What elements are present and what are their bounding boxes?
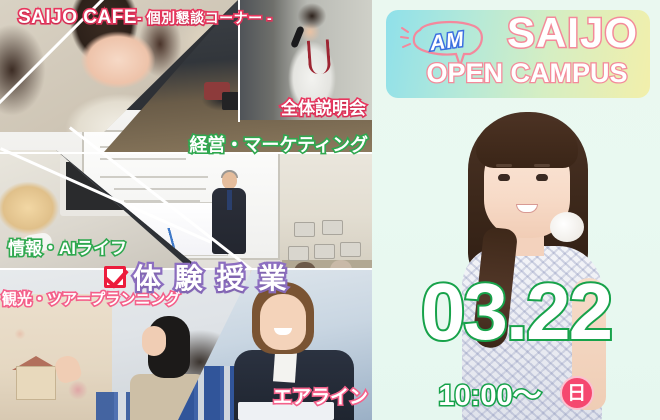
trial-lesson-label: 体 験 授 業	[133, 257, 289, 297]
am-badge-label: AM	[428, 28, 466, 57]
right-info-panel: AM SAIJO OPEN CAMPUS 03.22 10:00〜 日	[372, 0, 660, 420]
model-scrunchie	[550, 212, 584, 242]
lanyard	[307, 39, 331, 74]
day-of-week-badge: 日	[560, 376, 594, 410]
model-eye-right	[536, 174, 548, 181]
lecturer-head	[222, 172, 237, 189]
checkbox-checked-icon	[104, 266, 126, 288]
event-date-block: 03.22	[372, 272, 660, 352]
caption-information-ai-life: 情報・AIライフ	[8, 240, 127, 257]
model-eye-left	[498, 174, 510, 181]
presenter-face	[142, 326, 166, 356]
event-start-time: 10:00〜	[438, 372, 541, 414]
caption-saijo-cafe-main: SAIJO CAFE	[18, 7, 137, 28]
model-eyebrow-left	[496, 164, 512, 167]
caption-general-briefing: 全体説明会	[281, 100, 366, 117]
title-saijo: SAIJO	[507, 12, 638, 54]
model-bangs	[476, 120, 578, 168]
title-open-campus: OPEN CAMPUS	[404, 58, 650, 89]
event-date: 03.22	[372, 272, 660, 352]
caption-saijo-cafe: SAIJO CAFE- 個別懇談コーナー -	[18, 8, 272, 27]
open-campus-poster: SAIJO CAFE- 個別懇談コーナー - 全体説明会 経営・マーケティング …	[0, 0, 660, 420]
model-eyebrow-right	[534, 164, 550, 167]
trial-lesson-banner: 体 験 授 業	[104, 257, 289, 297]
instructor-face	[260, 294, 306, 350]
caption-management-marketing: 経営・マーケティング	[189, 136, 368, 154]
caption-airline: エアライン	[273, 388, 368, 407]
house-illustration	[16, 366, 56, 400]
caption-saijo-cafe-sub: - 個別懇談コーナー -	[137, 10, 272, 26]
lecturer-tie	[227, 190, 232, 210]
header-banner: AM SAIJO OPEN CAMPUS	[386, 10, 650, 98]
left-photo-collage: SAIJO CAFE- 個別懇談コーナー - 全体説明会 経営・マーケティング …	[0, 0, 372, 420]
instructor-shirt	[273, 351, 297, 382]
event-time-row: 10:00〜 日	[372, 372, 660, 414]
